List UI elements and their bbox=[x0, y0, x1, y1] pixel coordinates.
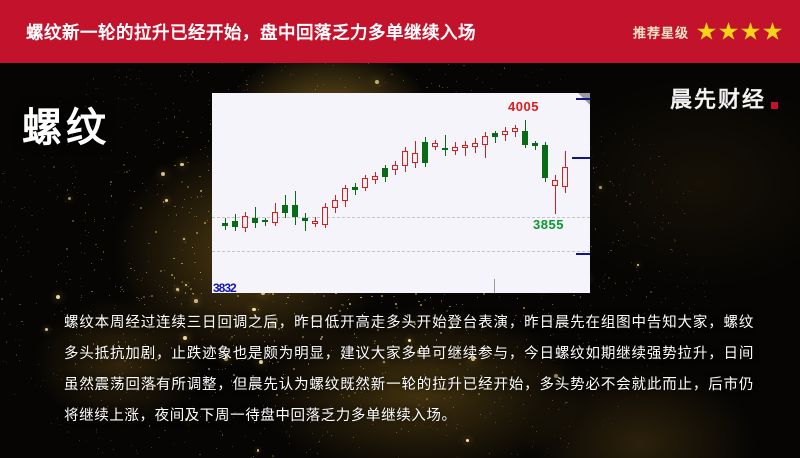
rating-group: 推荐星级 bbox=[633, 22, 782, 41]
candle-body bbox=[282, 205, 288, 213]
logo-dot-icon bbox=[771, 102, 778, 109]
candle-body bbox=[442, 148, 448, 150]
commodity-name: 螺纹 bbox=[22, 95, 110, 153]
candle-body bbox=[492, 133, 498, 137]
candlestick-chart[interactable]: 4005 3855 3832 bbox=[212, 93, 590, 293]
candle-body bbox=[512, 128, 518, 132]
poster-root: 螺纹新一轮的拉升已经开始，盘中回落乏力多单继续入场 推荐星级 螺纹 晨先财经 4… bbox=[0, 0, 800, 458]
candle-body bbox=[472, 143, 478, 146]
publisher-logo: 晨先财经 bbox=[670, 82, 778, 114]
candle-body bbox=[352, 187, 358, 190]
candle-body bbox=[262, 220, 268, 222]
rating-label: 推荐星级 bbox=[633, 22, 689, 41]
candle-body bbox=[252, 218, 258, 224]
candle-body bbox=[392, 165, 398, 170]
candle-body bbox=[432, 143, 438, 146]
star-icon bbox=[697, 22, 716, 41]
swing-high-label: 4005 bbox=[508, 99, 539, 114]
candle-body bbox=[242, 216, 248, 228]
star-rating bbox=[697, 22, 782, 41]
star-icon bbox=[741, 22, 760, 41]
candle-body bbox=[422, 142, 428, 163]
candle-wick bbox=[305, 213, 306, 230]
candle-body bbox=[342, 188, 348, 200]
candle-body bbox=[452, 147, 458, 151]
candle-body bbox=[222, 223, 228, 225]
publisher-name: 晨先财经 bbox=[670, 82, 766, 114]
axis-corner-label: 3832 bbox=[213, 281, 236, 293]
candle-body bbox=[302, 218, 308, 220]
candle-body bbox=[362, 178, 368, 187]
candle-body bbox=[292, 205, 298, 217]
candle-body bbox=[312, 221, 318, 223]
star-icon bbox=[719, 22, 738, 41]
candle-body bbox=[482, 136, 488, 145]
header-bar: 螺纹新一轮的拉升已经开始，盘中回落乏力多单继续入场 推荐星级 bbox=[0, 0, 800, 63]
candle-wick bbox=[445, 135, 446, 156]
x-axis-tick bbox=[494, 279, 495, 293]
candle-series bbox=[212, 93, 590, 293]
candle-body bbox=[402, 151, 408, 166]
candle-body bbox=[382, 168, 388, 177]
candle-body bbox=[562, 167, 568, 187]
candle-body bbox=[542, 145, 548, 179]
candle-body bbox=[412, 153, 418, 163]
analysis-paragraph: 螺纹本周经过连续三日回调之后，昨日低开高走多头开始登台表演，昨日晨先在组图中告知… bbox=[64, 308, 754, 432]
candle-body bbox=[522, 131, 528, 145]
candle-body bbox=[372, 176, 378, 180]
candle-body bbox=[272, 212, 278, 223]
page-title: 螺纹新一轮的拉升已经开始，盘中回落乏力多单继续入场 bbox=[26, 19, 476, 44]
candle-body bbox=[552, 180, 558, 186]
star-icon bbox=[763, 22, 782, 41]
candle-body bbox=[232, 221, 238, 227]
swing-low-label: 3855 bbox=[533, 217, 564, 232]
candle-wick bbox=[465, 141, 466, 156]
candle-body bbox=[532, 143, 538, 145]
candle-body bbox=[322, 207, 328, 224]
candle-body bbox=[462, 145, 468, 148]
candle-body bbox=[332, 200, 338, 209]
candle-body bbox=[502, 131, 508, 135]
